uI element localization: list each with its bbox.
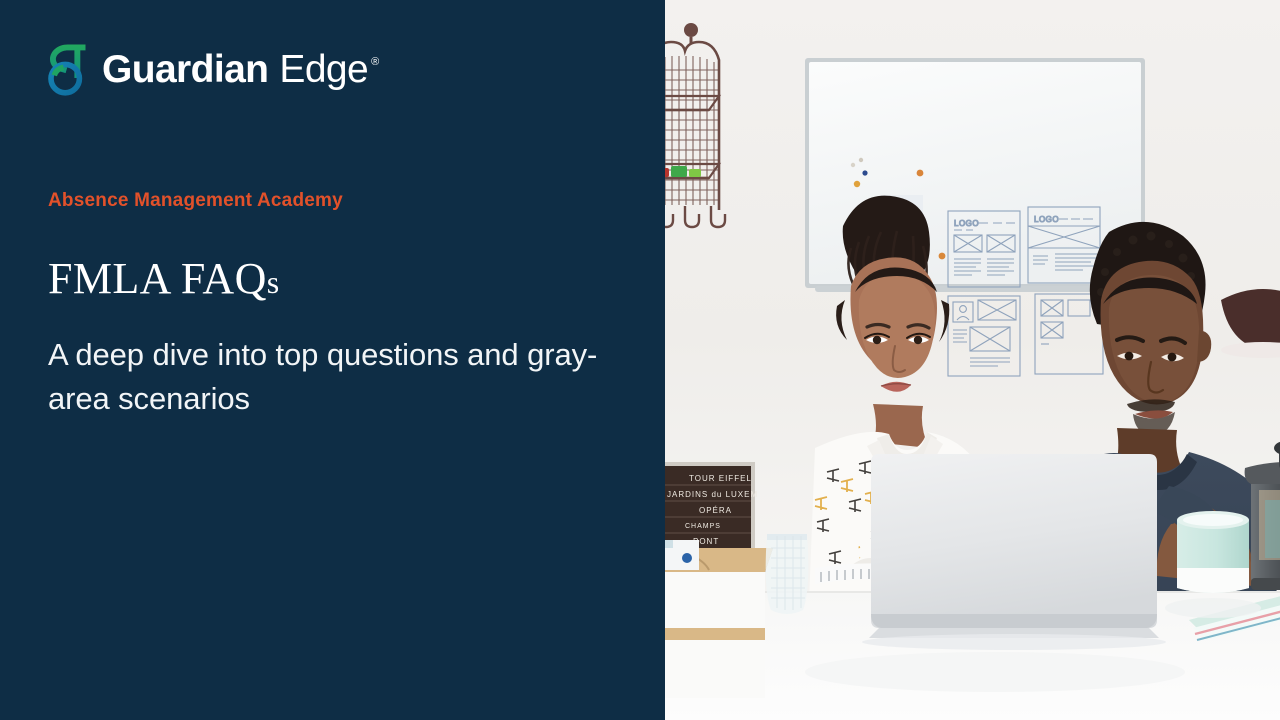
eyebrow-label: Absence Management Academy bbox=[48, 190, 343, 212]
svg-text:OPÉRA: OPÉRA bbox=[699, 506, 732, 515]
brand-name-light: Edge bbox=[279, 48, 368, 92]
svg-text:LOGO: LOGO bbox=[954, 219, 979, 228]
svg-text:TOUR EIFFEL: TOUR EIFFEL bbox=[689, 474, 752, 483]
brand-logo[interactable]: Guardian Edge ® bbox=[47, 43, 379, 96]
pendant-lamp-icon bbox=[1221, 289, 1280, 358]
svg-text:JARDINS du LUXEM: JARDINS du LUXEM bbox=[667, 490, 758, 499]
page-title-tail: s bbox=[267, 264, 280, 300]
svg-text:CHAMPS: CHAMPS bbox=[685, 523, 721, 530]
guardian-edge-mark-icon bbox=[47, 43, 88, 96]
page-title: FMLA FAQs bbox=[48, 253, 280, 304]
svg-text:LOGO: LOGO bbox=[1034, 215, 1059, 224]
brand-name-bold: Guardian bbox=[102, 48, 268, 92]
drinking-glass-icon bbox=[766, 534, 809, 614]
coffee-mug-icon bbox=[1177, 511, 1249, 593]
page-subtitle: A deep dive into top questions and gray-… bbox=[48, 333, 628, 421]
laptop-icon bbox=[862, 454, 1166, 650]
title-slide: Guardian Edge ® Absence Management Acade… bbox=[0, 0, 1280, 720]
hero-photo: LOGO LOGO bbox=[665, 0, 1280, 720]
wooden-box-icon bbox=[665, 548, 773, 698]
brand-wordmark: Guardian Edge ® bbox=[102, 48, 379, 92]
page-title-main: FMLA FAQ bbox=[48, 254, 267, 303]
left-content-panel: Guardian Edge ® Absence Management Acade… bbox=[0, 0, 665, 720]
registered-mark-icon: ® bbox=[371, 56, 379, 68]
